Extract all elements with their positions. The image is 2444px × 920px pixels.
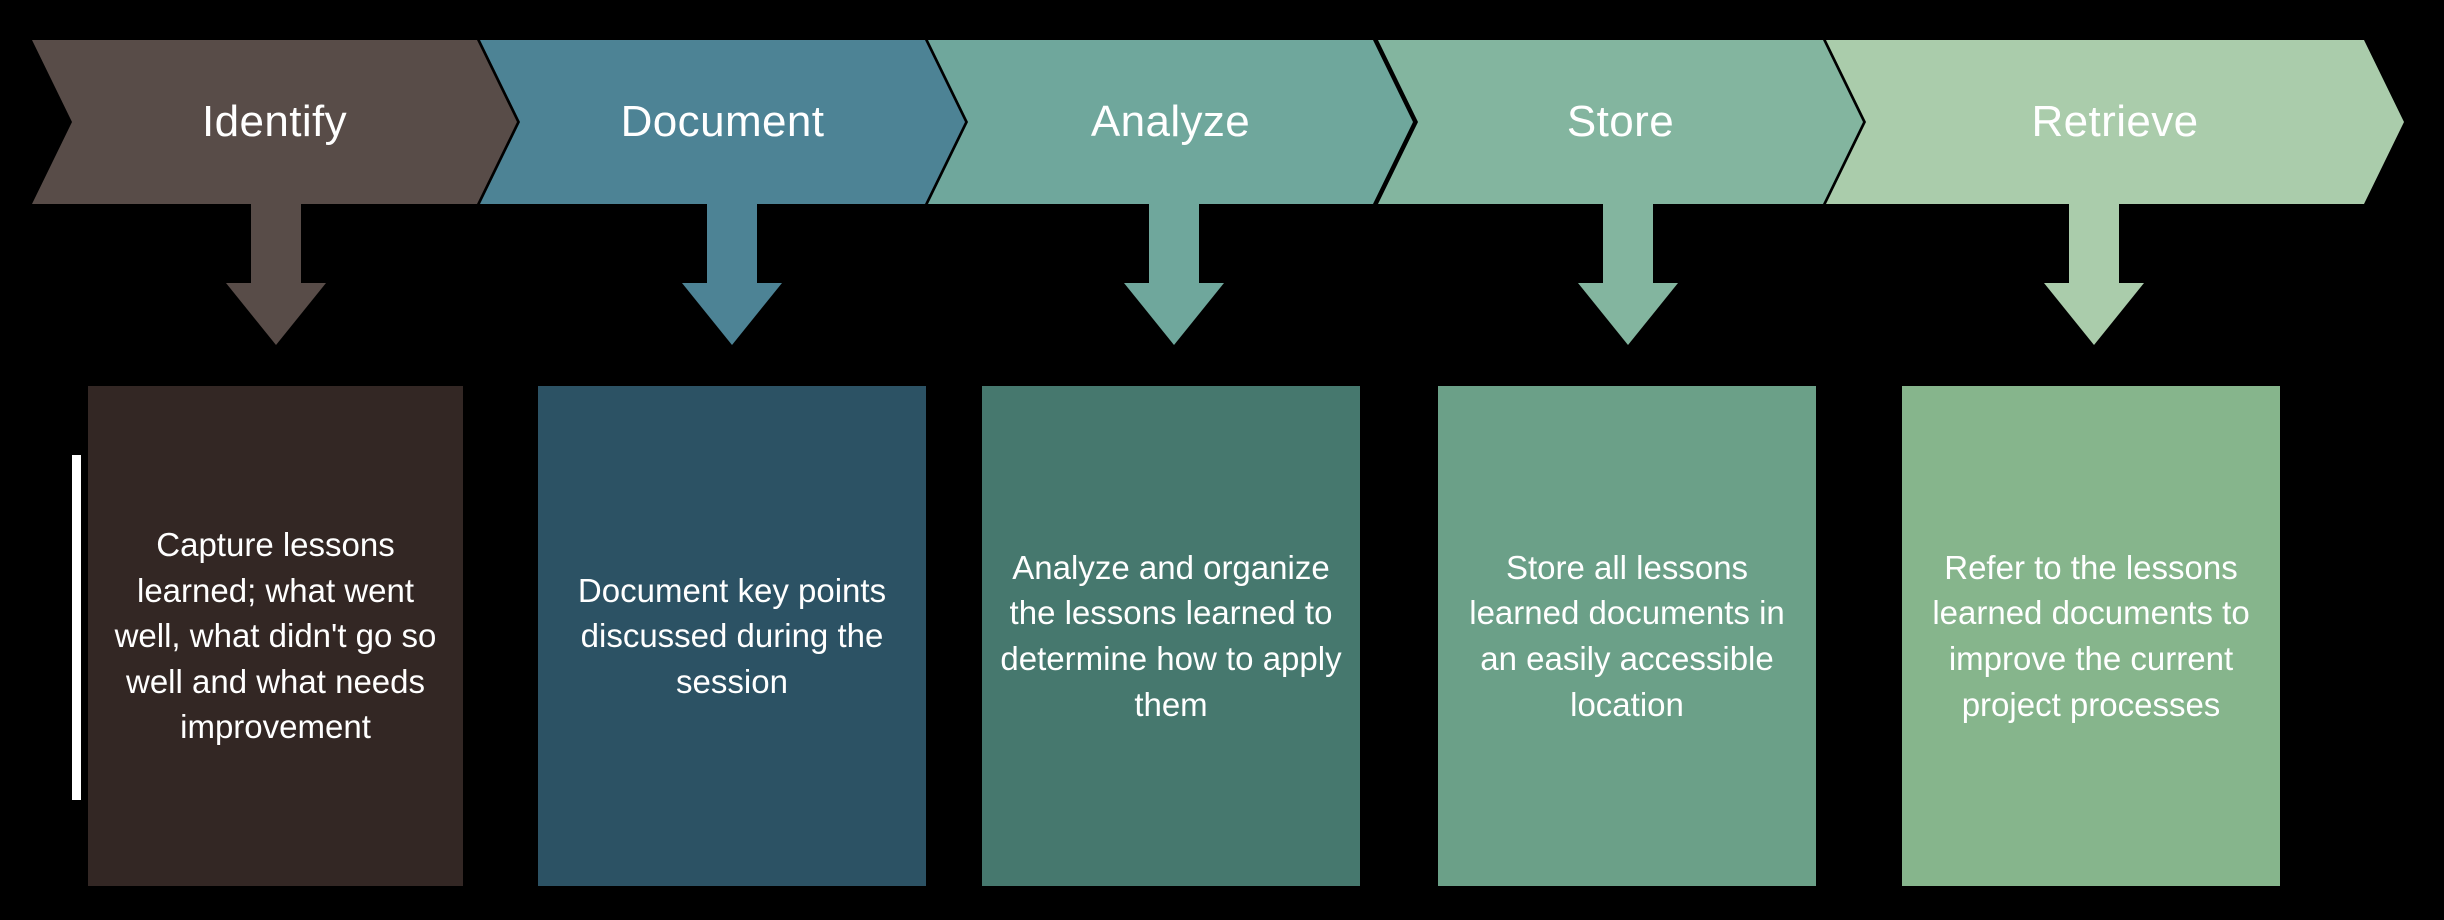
description-text-store: Store all lessons learned documents in a… — [1452, 545, 1802, 727]
description-text-document: Document key points discussed during the… — [552, 568, 912, 705]
arrow-head — [1578, 283, 1678, 345]
chevron-label-document: Document — [621, 100, 825, 144]
description-text-identify: Capture lessons learned; what went well,… — [102, 522, 449, 750]
chevron-label-retrieve: Retrieve — [2031, 100, 2198, 144]
arrow-shaft — [1149, 203, 1199, 285]
description-box-identify[interactable]: Capture lessons learned; what went well,… — [88, 386, 463, 886]
arrow-head — [226, 283, 326, 345]
down-arrow-icon-retrieve — [2044, 203, 2144, 345]
arrow-shaft — [251, 203, 301, 285]
arrow-shaft — [1603, 203, 1653, 285]
arrow-head — [1124, 283, 1224, 345]
arrow-shaft — [2069, 203, 2119, 285]
description-text-retrieve: Refer to the lessons learned documents t… — [1916, 545, 2266, 727]
description-inner: Capture lessons learned; what went well,… — [88, 522, 463, 750]
chevron-label-identify: Identify — [202, 100, 347, 144]
down-arrow-icon-identify — [226, 203, 326, 345]
down-arrow-icon-analyze — [1124, 203, 1224, 345]
arrow-shaft — [707, 203, 757, 285]
chevron-stage-identify[interactable]: Identify — [32, 40, 517, 204]
description-inner: Store all lessons learned documents in a… — [1438, 545, 1816, 727]
diagram-canvas: Identify Document Analyze Store Retrieve — [0, 0, 2444, 920]
arrow-head — [682, 283, 782, 345]
selection-cursor-bar[interactable] — [72, 455, 81, 800]
description-box-retrieve[interactable]: Refer to the lessons learned documents t… — [1902, 386, 2280, 886]
description-text-analyze: Analyze and organize the lessons learned… — [996, 545, 1346, 727]
description-box-document[interactable]: Document key points discussed during the… — [538, 386, 926, 886]
chevron-label-analyze: Analyze — [1091, 100, 1250, 144]
chevron-band: Identify Document Analyze Store Retrieve — [0, 40, 2444, 204]
chevron-stage-store[interactable]: Store — [1378, 40, 1863, 204]
down-arrow-icon-document — [682, 203, 782, 345]
arrow-head — [2044, 283, 2144, 345]
description-box-store[interactable]: Store all lessons learned documents in a… — [1438, 386, 1816, 886]
down-arrow-icon-store — [1578, 203, 1678, 345]
chevron-stage-document[interactable]: Document — [480, 40, 965, 204]
description-inner: Analyze and organize the lessons learned… — [982, 545, 1360, 727]
description-inner: Document key points discussed during the… — [538, 568, 926, 705]
chevron-stage-analyze[interactable]: Analyze — [928, 40, 1413, 204]
chevron-label-store: Store — [1567, 100, 1674, 144]
description-inner: Refer to the lessons learned documents t… — [1902, 545, 2280, 727]
description-box-analyze[interactable]: Analyze and organize the lessons learned… — [982, 386, 1360, 886]
chevron-stage-retrieve[interactable]: Retrieve — [1826, 40, 2404, 204]
